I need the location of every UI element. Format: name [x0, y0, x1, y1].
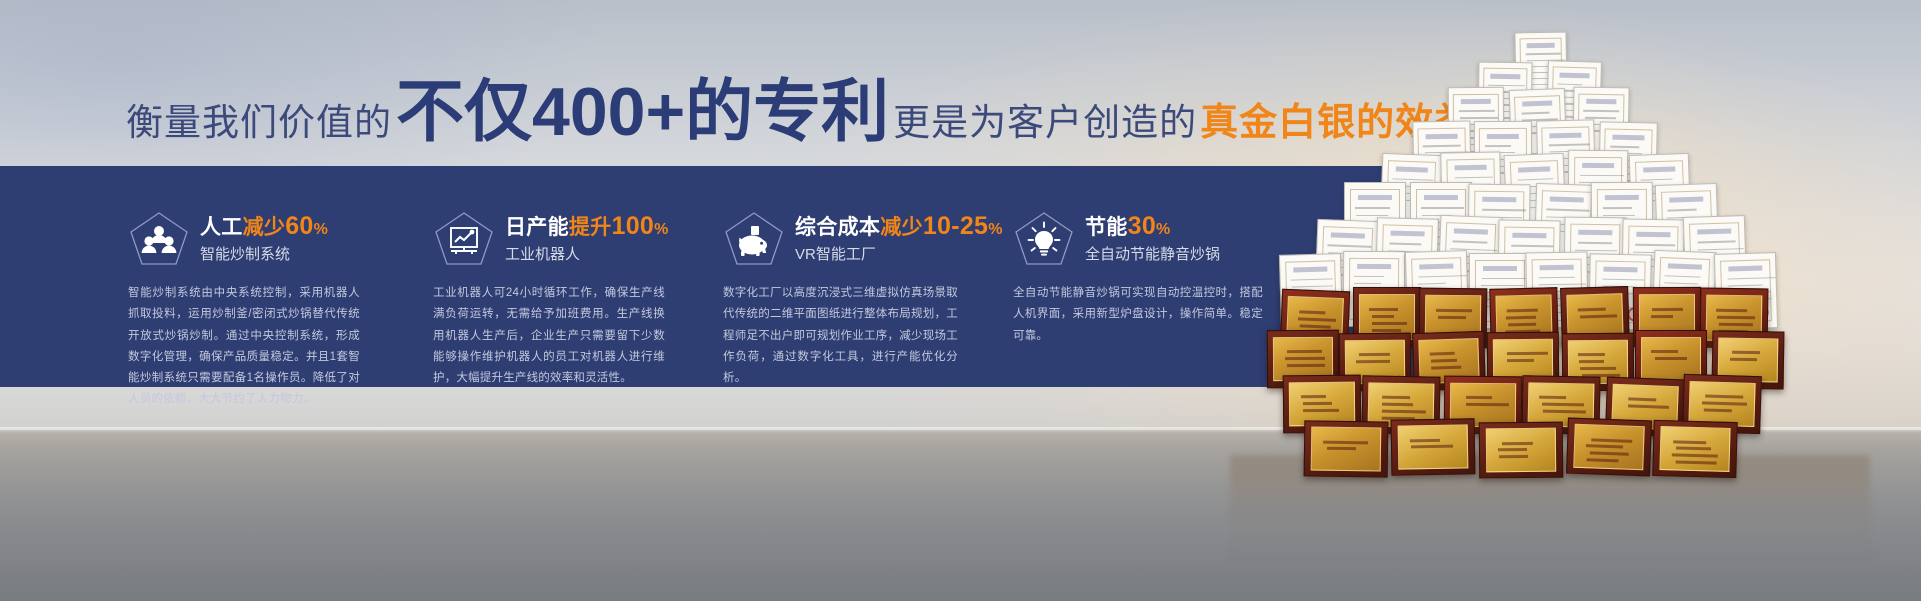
banner-stage: 衡量我们价值的 不仅400+的专利 更是为客户创造的 真金白银的效益 [0, 0, 1921, 601]
feature-title-number: 60 [285, 212, 313, 240]
piggy-bank-icon [723, 210, 785, 268]
feature-titles: 人工减少60% 智能炒制系统 [200, 212, 328, 266]
feature-body-text: 全自动节能静音炒锅可实现自动控温控时，搭配人机界面，采用新型炉盘设计，操作简单。… [1013, 283, 1263, 347]
feature-title-number: 30 [1128, 212, 1156, 240]
award-plaque-item [1652, 420, 1737, 478]
feature-titles: 日产能提升100% 工业机器人 [505, 212, 669, 266]
feature-body-text: 智能炒制系统由中央系统控制，采用机器人抓取投料，运用炒制釜/密闭式炒锅替代传统开… [128, 283, 360, 411]
feature-title-accent: 减少 [243, 216, 286, 239]
feature-title-number: 100 [612, 212, 655, 240]
chart-board-icon [433, 210, 495, 268]
feature-title-percent: % [1156, 221, 1171, 238]
award-plaque-item [1304, 421, 1389, 478]
feature-title-plain: 日产能 [505, 216, 569, 239]
feature-title: 节能30% [1085, 212, 1220, 241]
lightbulb-icon [1013, 210, 1075, 268]
feature-header: 日产能提升100% 工业机器人 [433, 211, 698, 267]
feature-card-capacity: 日产能提升100% 工业机器人 工业机器人可24小时循环工作，确保生产线满负荷运… [433, 166, 698, 387]
features-row: 人工减少60% 智能炒制系统 智能炒制系统由中央系统控制，采用机器人抓取投料，运… [0, 166, 1437, 387]
feature-title-accent: 提升 [569, 216, 612, 239]
feature-body-text: 数字化工厂以高度沉浸式三维虚拟仿真场景取代传统的二维平面图纸进行整体布局规划，工… [723, 283, 958, 389]
headline-prefix: 衡量我们价值的 [126, 104, 392, 146]
feature-title-percent: % [988, 221, 1003, 238]
feature-title-plain: 节能 [1085, 216, 1128, 239]
feature-header: 人工减少60% 智能炒制系统 [128, 211, 408, 267]
feature-title-percent: % [654, 221, 669, 238]
award-plaque-item [1566, 418, 1652, 477]
feature-title: 综合成本减少10-25% [795, 212, 1003, 241]
feature-titles: 综合成本减少10-25% VR智能工厂 [795, 212, 1003, 266]
feature-title-number: 10-25 [923, 212, 988, 240]
feature-title-percent: % [314, 221, 329, 238]
headline-emphasis: 不仅400+的专利 [392, 78, 893, 146]
feature-titles: 节能30% 全自动节能静音炒锅 [1085, 212, 1220, 266]
feature-body-text: 工业机器人可24小时循环工作，确保生产线满负荷运转，无需给予加班费用。生产线换用… [433, 283, 665, 389]
feature-subtitle: 全自动节能静音炒锅 [1085, 244, 1220, 267]
feature-title: 日产能提升100% [505, 212, 669, 241]
feature-subtitle: VR智能工厂 [795, 244, 1003, 267]
feature-title: 人工减少60% [200, 212, 328, 241]
people-group-icon [128, 210, 190, 268]
certificate-wall [1190, 28, 1890, 498]
headline-middle: 更是为客户创造的 [893, 104, 1197, 146]
feature-subtitle: 工业机器人 [505, 244, 669, 267]
feature-title-accent: 减少 [880, 216, 923, 239]
feature-subtitle: 智能炒制系统 [200, 244, 328, 267]
award-plaque-item [1479, 421, 1564, 478]
award-plaque-item [1391, 418, 1476, 475]
feature-card-labor: 人工减少60% 智能炒制系统 智能炒制系统由中央系统控制，采用机器人抓取投料，运… [128, 166, 408, 387]
feature-title-plain: 人工 [200, 216, 243, 239]
feature-title-plain: 综合成本 [795, 216, 880, 239]
feature-header: 综合成本减少10-25% VR智能工厂 [723, 211, 988, 267]
headline: 衡量我们价值的 不仅400+的专利 更是为客户创造的 真金白银的效益 [126, 70, 1276, 146]
feature-header: 节能30% 全自动节能静音炒锅 [1013, 211, 1313, 267]
feature-card-cost: 综合成本减少10-25% VR智能工厂 数字化工厂以高度沉浸式三维虚拟仿真场景取… [723, 166, 988, 387]
